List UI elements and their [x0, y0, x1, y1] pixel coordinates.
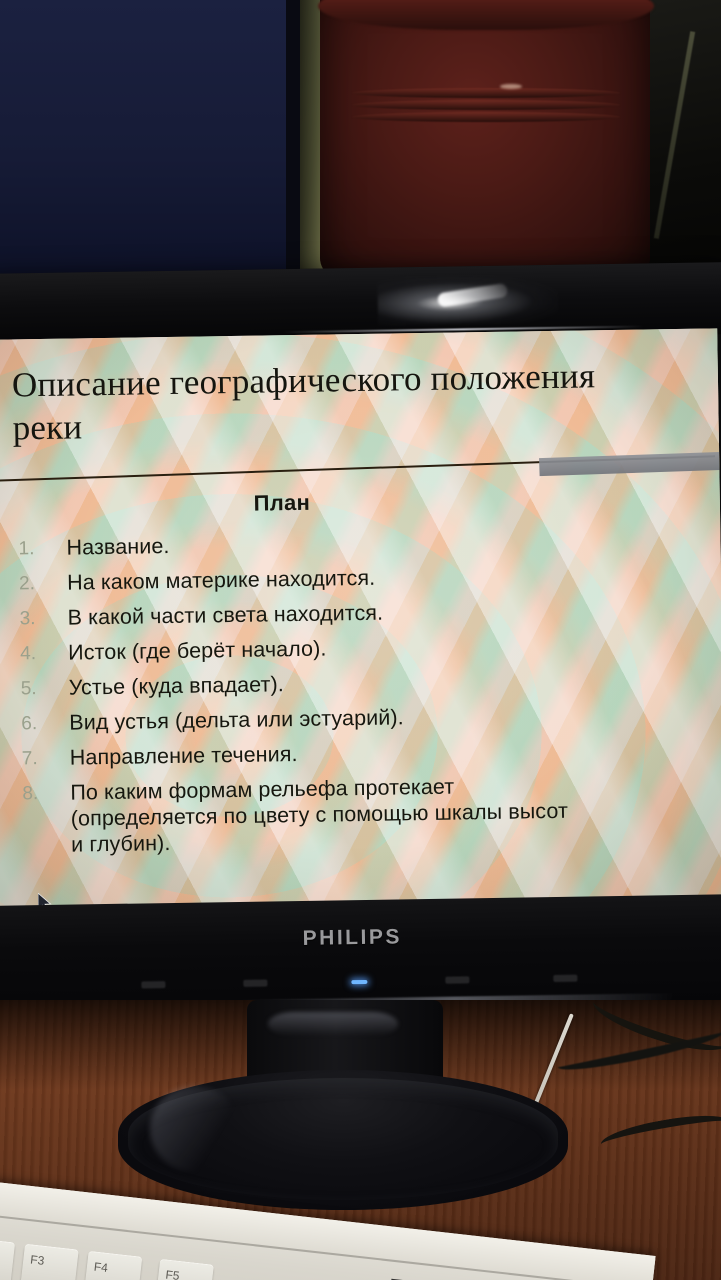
background-right-dark-area [640, 0, 721, 286]
key-f4[interactable]: F4 [83, 1251, 143, 1280]
flower-pot-groove [352, 88, 620, 98]
plan-item-number: 2. [19, 570, 67, 596]
plan-item-8: 8. По каким формам рельефа протекает (оп… [22, 769, 721, 858]
plan-item-number: 3. [19, 605, 67, 631]
power-button[interactable] [553, 975, 577, 982]
plan-item-text: Название. [66, 524, 718, 560]
key-f5[interactable]: F5 [154, 1259, 214, 1280]
plan-item-number: 4. [20, 640, 68, 666]
plan-item-2: 2. На каком материке находится. [19, 559, 719, 596]
plan-item-text: Исток (где берёт начало). [68, 629, 720, 665]
presentation-slide: Описание географического положения реки … [0, 328, 721, 907]
power-led-indicator [351, 980, 367, 984]
plan-item-1: 1. Название. [18, 524, 718, 561]
plan-heading: План [0, 483, 720, 520]
plan-item-number: 6. [21, 710, 69, 736]
key-f4-label: F4 [93, 1260, 108, 1275]
monitor-stand-highlight [268, 1012, 398, 1036]
philips-brand-logo: PHILIPS [303, 925, 403, 951]
plan-item-text: В какой части света находится. [67, 594, 719, 630]
background-wall [0, 0, 302, 286]
osd-button-3[interactable] [445, 976, 469, 983]
plan-item-7: 7. Направление течения. [22, 734, 721, 771]
key-f5-label: F5 [165, 1268, 180, 1280]
monitor: Описание географического положения реки … [0, 262, 721, 1016]
plan-item-text: Вид устья (дельта или эстуарий). [69, 699, 721, 735]
osd-button-2[interactable] [243, 980, 267, 987]
key-f3-label: F3 [30, 1252, 45, 1267]
plan-item-3: 3. В какой части света находится. [19, 594, 719, 631]
plan-item-number: 1. [18, 535, 66, 561]
flower-pot-groove [352, 100, 620, 110]
plan-item-text: Устье (куда впадает). [69, 664, 721, 700]
key-f3[interactable]: F3 [19, 1244, 79, 1280]
plan-item-5: 5. Устье (куда впадает). [21, 664, 721, 701]
plan-item-number: 8. [22, 780, 70, 806]
flower-pot [320, 0, 650, 286]
plan-item-text: Направление течения. [70, 734, 721, 770]
screenshot-stage: Описание географического положения реки … [0, 0, 721, 1280]
plan-item-text: На каком материке находится. [67, 559, 719, 595]
plan-item-4: 4. Исток (где берёт начало). [20, 629, 720, 666]
plan-item-number: 7. [22, 745, 70, 771]
plan-item-6: 6. Вид устья (дельта или эстуарий). [21, 699, 721, 736]
plan-item-text: По каким формам рельефа протекает (опред… [70, 769, 721, 857]
title-divider-block [539, 452, 720, 476]
slide-title: Описание географического положения реки [12, 354, 633, 450]
osd-button-1[interactable] [141, 981, 165, 988]
plan-list: 1. Название. 2. На каком материке находи… [18, 524, 721, 867]
monitor-screen[interactable]: Описание географического положения реки … [0, 328, 721, 907]
monitor-stand-base-sheen [150, 1086, 240, 1172]
key-f2[interactable]: F2 [0, 1237, 15, 1280]
plan-item-number: 5. [21, 675, 69, 701]
flower-pot-groove [352, 112, 620, 122]
flower-pot-highlight [500, 84, 522, 89]
